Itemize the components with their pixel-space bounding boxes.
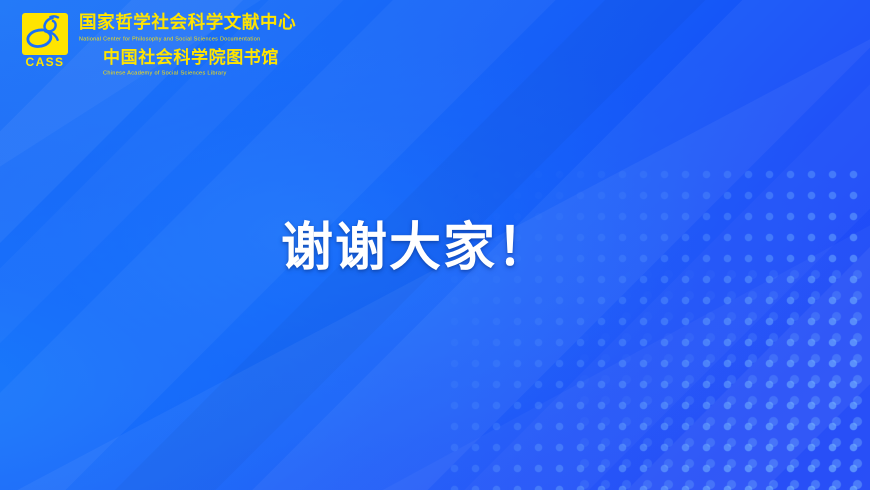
org-title-en-primary: National Center for Philosophy and Socia… bbox=[79, 35, 296, 44]
cass-logo-mark: CASS bbox=[22, 13, 68, 68]
org-title-en-secondary: Chinese Academy of Social Sciences Libra… bbox=[103, 69, 296, 78]
logo-text-block: 国家哲学社会科学文献中心 National Center for Philoso… bbox=[79, 13, 296, 77]
cass-wordmark: CASS bbox=[26, 56, 65, 68]
halftone-dot-pattern-dense bbox=[570, 260, 870, 490]
presentation-slide: CASS 国家哲学社会科学文献中心 National Center for Ph… bbox=[0, 0, 870, 490]
org-title-cn-secondary: 中国社会科学院图书馆 bbox=[103, 49, 296, 68]
cass-logo-lockup: CASS 国家哲学社会科学文献中心 National Center for Ph… bbox=[22, 13, 296, 77]
org-title-cn-primary: 国家哲学社会科学文献中心 bbox=[79, 14, 296, 34]
cass-emblem-icon bbox=[22, 13, 68, 55]
